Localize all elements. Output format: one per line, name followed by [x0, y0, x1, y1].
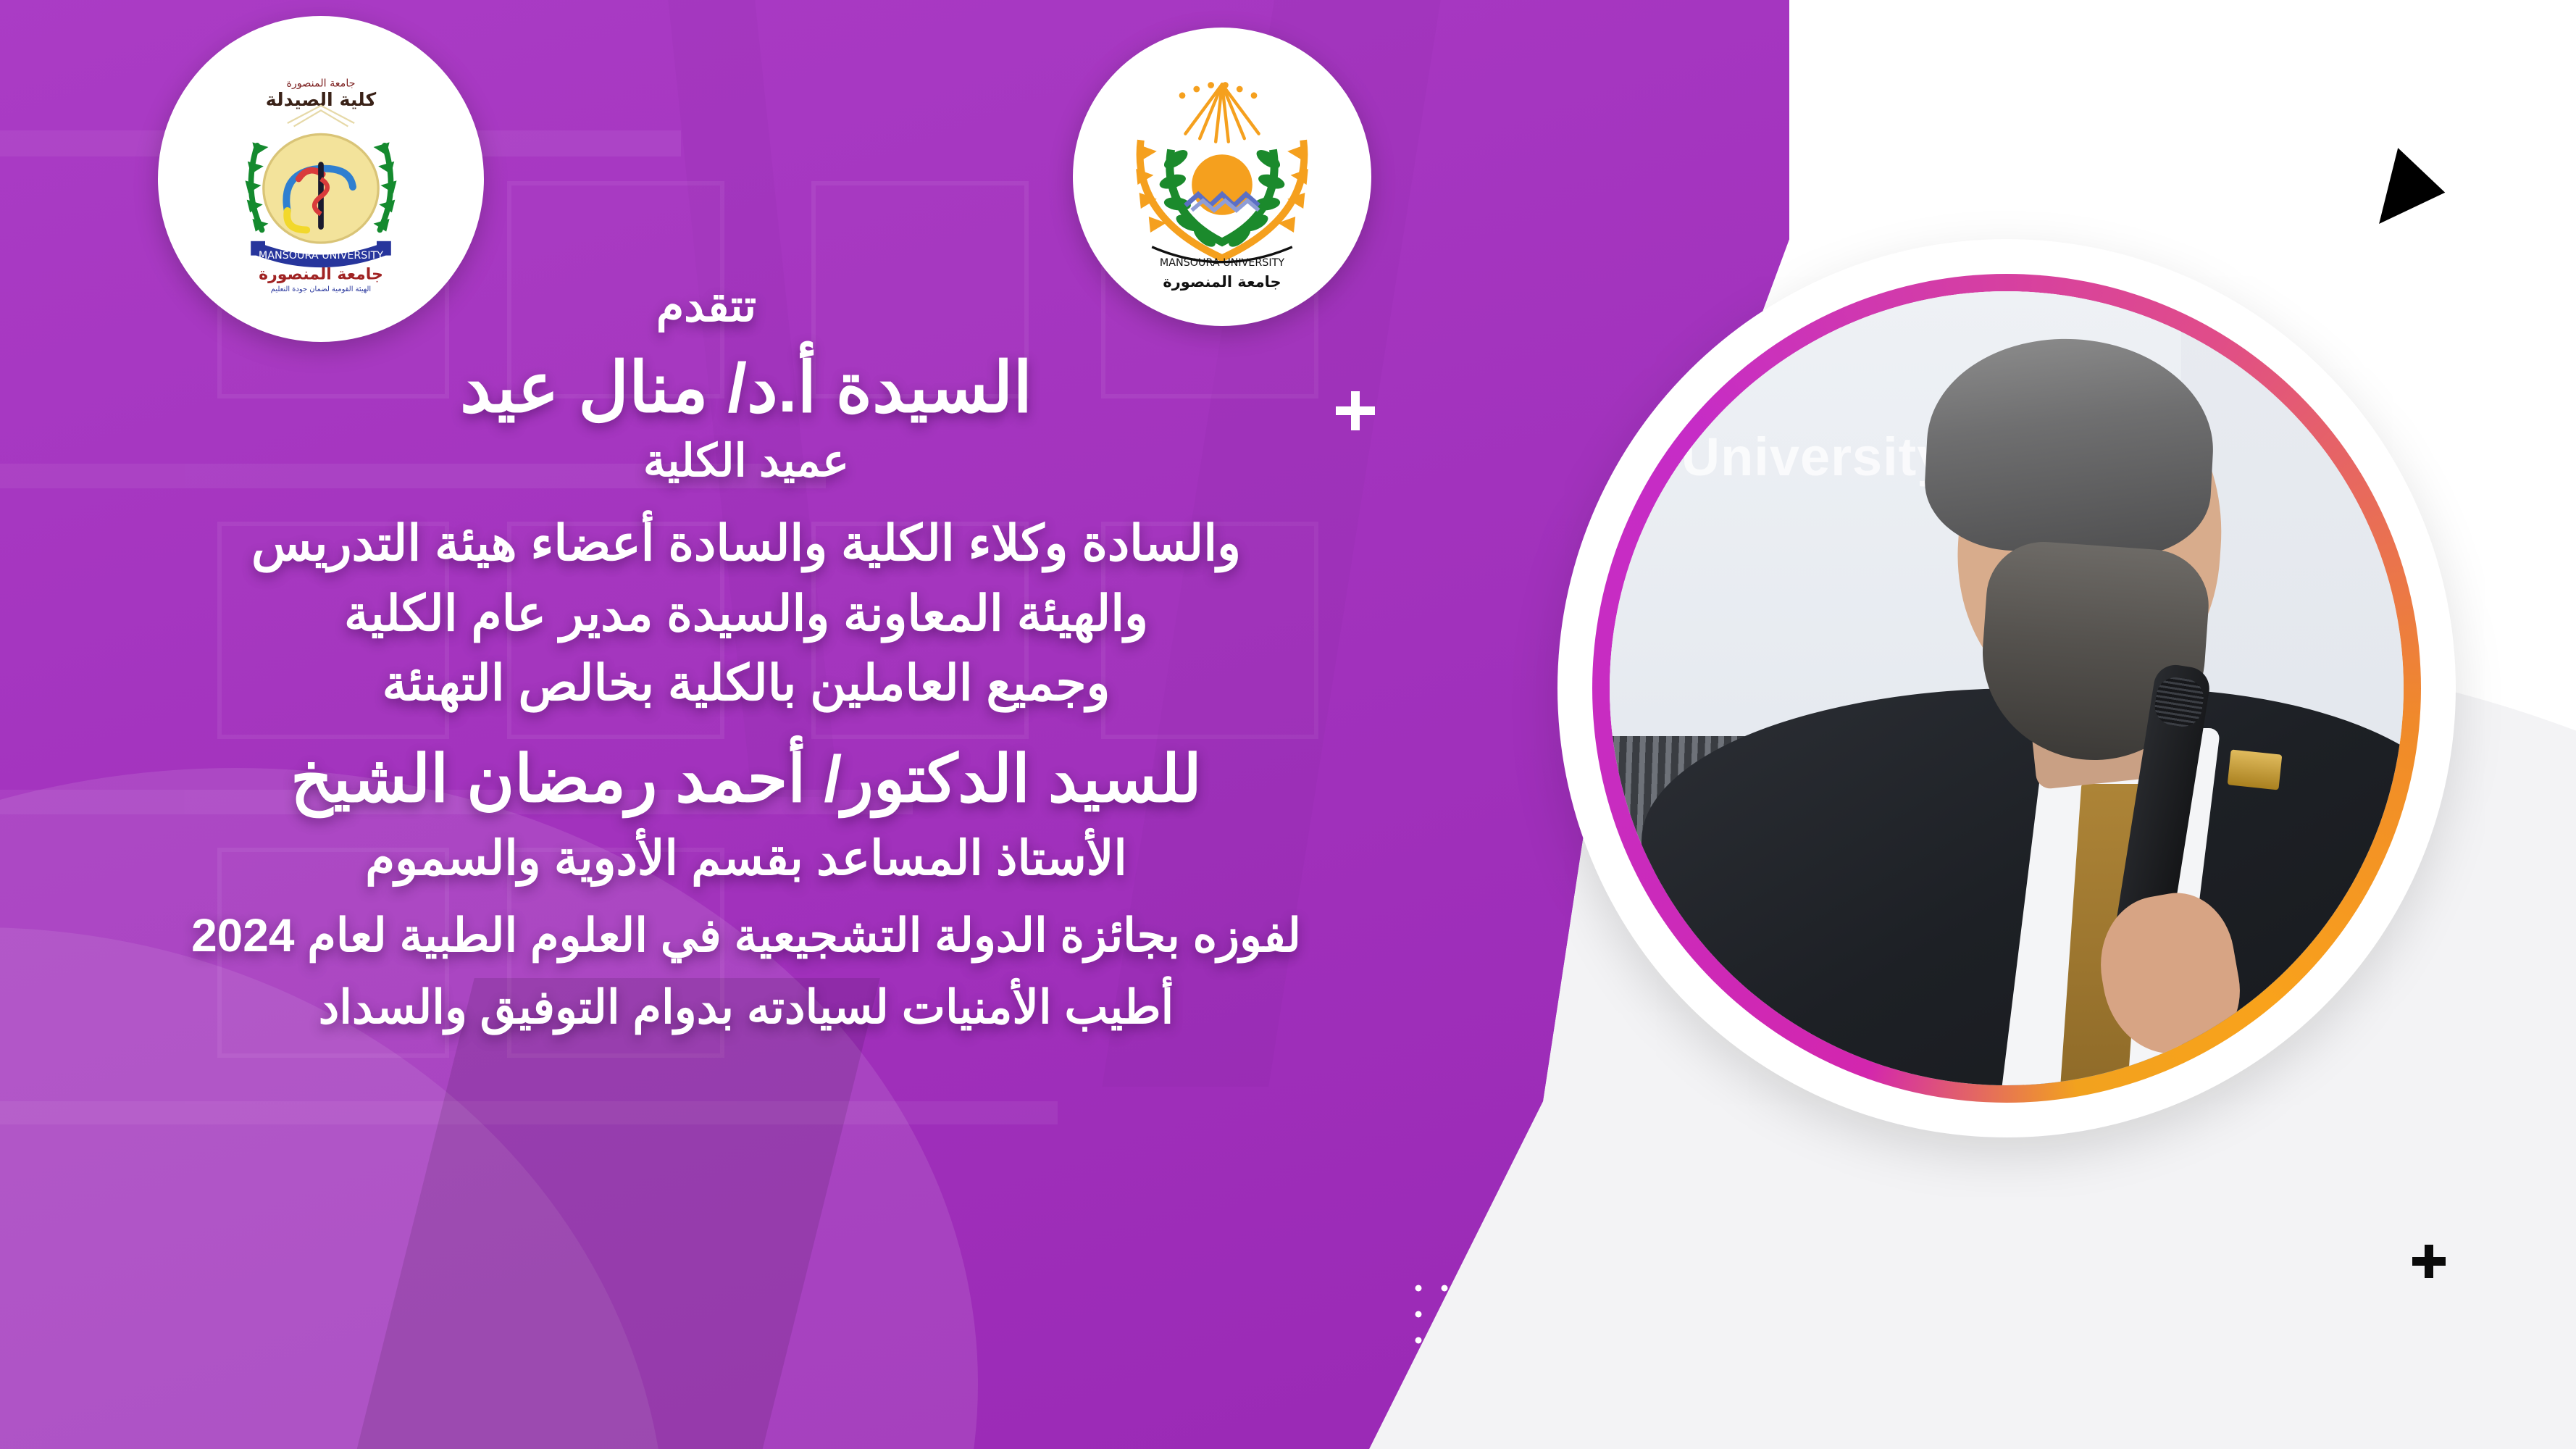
svg-text:الهيئة القومية لضمان جودة التع: الهيئة القومية لضمان جودة التعليم: [271, 285, 371, 293]
portrait-background-text: University: [1681, 426, 1948, 488]
faculty-of-pharmacy-mansoura-logo: جامعة المنصورة كلية الصيدلة: [158, 16, 484, 342]
poster-canvas: تتقدم السيدة أ.د/ منال عيد عميد الكلية و…: [0, 0, 2576, 1449]
svg-text:MANSOURA UNIVERSITY: MANSOURA UNIVERSITY: [259, 250, 383, 262]
dean-title: عميد الكلية: [0, 431, 1492, 492]
body-line-1: والسادة وكلاء الكلية والسادة أعضاء هيئة …: [0, 509, 1492, 579]
award-line: لفوزه بجائزة الدولة التشجيعية في العلوم …: [0, 906, 1492, 966]
dean-name: السيدة أ.د/ منال عيد: [0, 350, 1492, 427]
wish-line: أطيب الأمنيات لسيادته بدوام التوفيق والس…: [0, 977, 1492, 1037]
congratulation-text-block: تتقدم السيدة أ.د/ منال عيد عميد الكلية و…: [0, 283, 1492, 1037]
plus-decoration-black: [2412, 1245, 2446, 1278]
svg-text:جامعة المنصورة: جامعة المنصورة: [259, 266, 383, 284]
mansoura-university-logo: MANSOURA UNIVERSITY جامعة المنصورة: [1073, 28, 1371, 326]
svg-text:MANSOURA UNIVERSITY: MANSOURA UNIVERSITY: [1160, 257, 1284, 269]
svg-text:جامعة المنصورة: جامعة المنصورة: [286, 78, 355, 89]
honoree-role: الأستاذ المساعد بقسم الأدوية والسموم: [0, 827, 1492, 890]
body-line-3: وجميع العاملين بالكلية بخالص التهنئة: [0, 648, 1492, 719]
svg-text:كلية الصيدلة: كلية الصيدلة: [266, 89, 377, 110]
honoree-portrait: University: [1557, 239, 2456, 1137]
portrait-photo: University: [1610, 291, 2404, 1085]
plus-decoration-white: [1336, 391, 1375, 430]
body-line-2: والهيئة المعاونة والسيدة مدير عام الكلية: [0, 579, 1492, 649]
honoree-name: للسيد الدكتور/ أحمد رمضان الشيخ: [0, 740, 1492, 819]
svg-text:جامعة المنصورة: جامعة المنصورة: [1163, 273, 1281, 291]
